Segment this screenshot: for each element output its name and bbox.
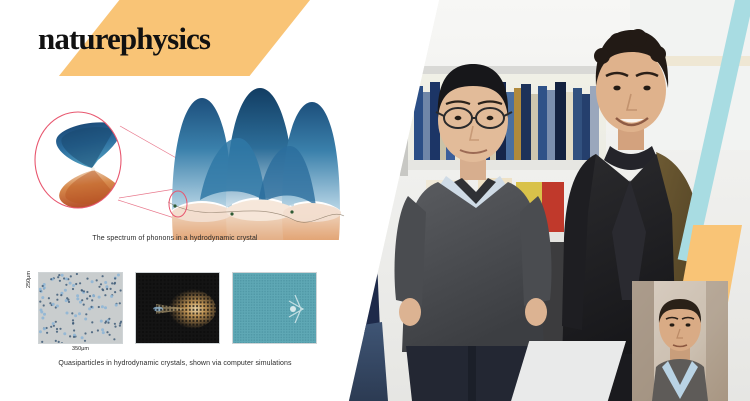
sim-panel-lattice-plume (135, 272, 220, 344)
logo-word-nature: nature (38, 21, 120, 56)
logo-word-physics: physics (120, 21, 210, 56)
sim-panel-1-svg (39, 273, 123, 344)
axis-label-y: 250μm (26, 271, 32, 288)
sim-panel-lattice-teal (232, 272, 317, 344)
inset-portrait (632, 281, 728, 401)
simulations-caption: Quasiparticles in hydrodynamic crystals,… (0, 360, 350, 367)
band-structure-surface (168, 88, 344, 240)
phonon-spectrum-figure: The spectrum of phonons in a hydrodynami… (0, 80, 350, 250)
feature-graphic-canvas: naturephysics (0, 0, 750, 401)
nature-physics-logo: naturephysics (38, 23, 210, 54)
left-figure-column: The spectrum of phonons in a hydrodynami… (0, 80, 350, 401)
sim-panel-3-svg (233, 273, 317, 344)
spectrum-caption: The spectrum of phonons in a hydrodynami… (0, 235, 350, 242)
photo-composition (330, 0, 750, 401)
sim-panel-scattered-particles (38, 272, 123, 344)
dirac-cone-inset (35, 112, 122, 209)
phonon-spectrum-svg (0, 80, 350, 240)
inset-portrait-svg (632, 281, 728, 401)
axis-label-x: 350μm (38, 346, 123, 352)
simulation-panels-strip: 250μm 350μm (0, 272, 350, 362)
sim-panel-2-svg (136, 273, 220, 344)
